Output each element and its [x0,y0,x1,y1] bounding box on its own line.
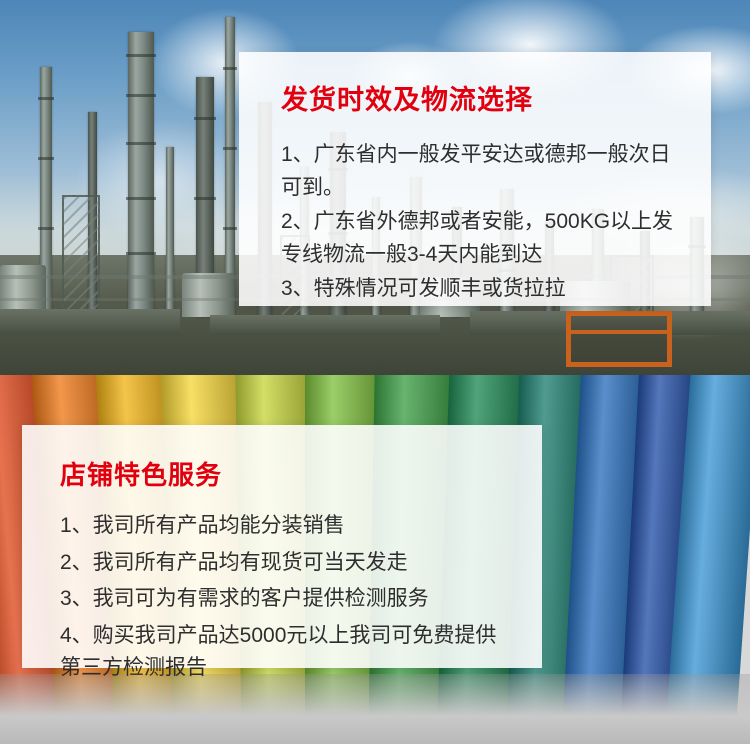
colored-felt-rolls-photo: 店铺特色服务 1、我司所有产品均能分装销售 2、我司所有产品均有现货可当天发走 … [0,375,750,744]
flare-stack [225,17,235,317]
plant-building [0,309,180,335]
store-services-card: 店铺特色服务 1、我司所有产品均能分装销售 2、我司所有产品均有现货可当天发走 … [22,425,542,668]
chimney [166,147,174,317]
plant-building [210,315,440,335]
orange-equipment-frame [566,311,672,367]
storage-tank [182,273,234,317]
services-card-line-2: 2、我司所有产品均有现货可当天发走 [60,547,508,580]
services-card-line-4: 4、购买我司产品达5000元以上我司可免费提供第三方检测报告 [60,620,508,685]
promotional-image: 发货时效及物流选择 1、广东省内一般发平安达或德邦一般次日可到。 2、广东省外德… [0,0,750,744]
shipping-card-line-3: 3、特殊情况可发顺丰或货拉拉 [281,273,681,306]
industrial-refinery-photo: 发货时效及物流选择 1、广东省内一般发平安达或德邦一般次日可到。 2、广东省外德… [0,0,750,375]
shipping-card-line-1: 1、广东省内一般发平安达或德邦一般次日可到。 [281,139,681,204]
services-card-title: 店铺特色服务 [60,455,508,492]
smoke-plume [75,120,245,240]
services-card-line-3: 3、我司可为有需求的客户提供检测服务 [60,583,508,616]
shipping-card-line-2: 2、广东省外德邦或者安能，500KG以上发专线物流一般3-4天内能到达 [281,206,681,271]
services-card-line-1: 1、我司所有产品均能分装销售 [60,510,508,543]
shipping-card-title: 发货时效及物流选择 [281,78,681,117]
shipping-info-card: 发货时效及物流选择 1、广东省内一般发平安达或德邦一般次日可到。 2、广东省外德… [239,52,711,306]
